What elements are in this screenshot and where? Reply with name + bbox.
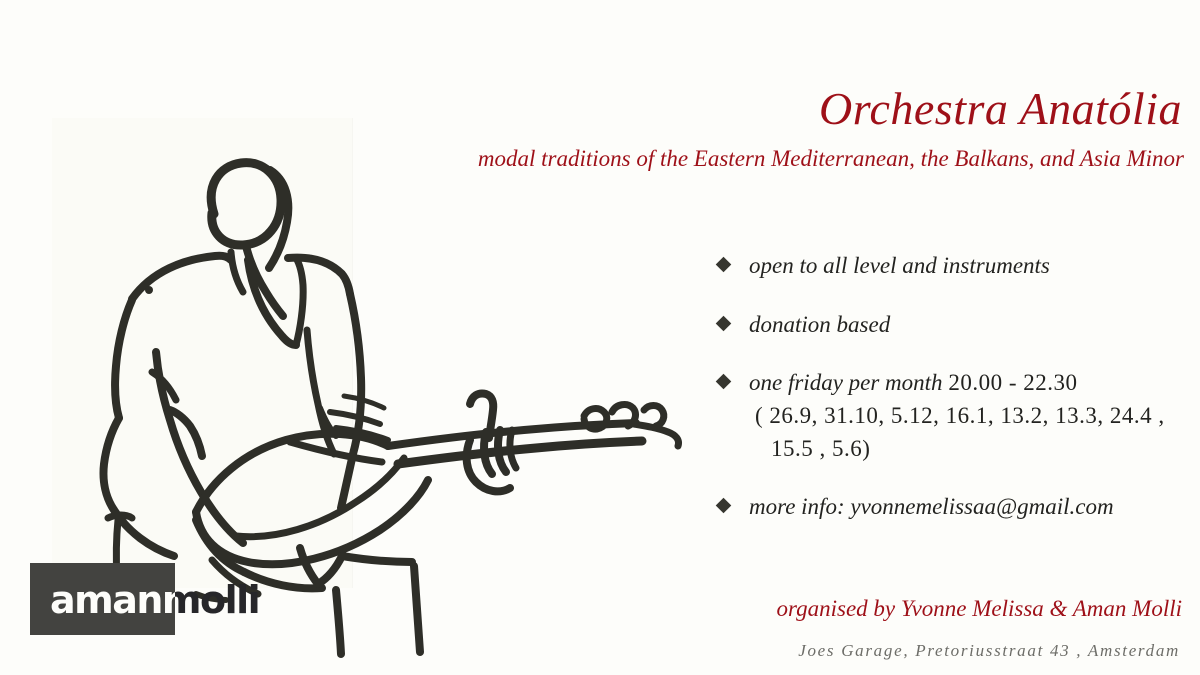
details-list: open to all level and instruments donati… bbox=[718, 250, 1198, 524]
page-subtitle: modal traditions of the Eastern Mediterr… bbox=[478, 146, 1184, 172]
list-item: donation based bbox=[718, 309, 1198, 342]
schedule-dates-line-2: 15.5 , 5.6) bbox=[749, 433, 1165, 466]
schedule-frequency-label: one friday per month bbox=[749, 370, 943, 395]
list-item-label: open to all level and instruments bbox=[749, 250, 1050, 283]
logo-wordmark: amanmolli bbox=[50, 583, 280, 623]
schedule-block: one friday per month 20.00 - 22.30 ( 26.… bbox=[749, 367, 1165, 465]
text-content-column: Orchestra Anatólia modal traditions of t… bbox=[600, 0, 1200, 675]
list-item-label: donation based bbox=[749, 309, 890, 342]
page-title: Orchestra Anatólia bbox=[819, 82, 1182, 135]
diamond-bullet-icon bbox=[716, 498, 732, 514]
list-item: open to all level and instruments bbox=[718, 250, 1198, 283]
list-item-contact: more info: yvonnemelissaa@gmail.com bbox=[718, 491, 1198, 524]
diamond-bullet-icon bbox=[716, 374, 732, 390]
diamond-bullet-icon bbox=[716, 315, 732, 331]
list-item-schedule: one friday per month 20.00 - 22.30 ( 26.… bbox=[718, 367, 1198, 465]
amanmolli-logo: amanmolli bbox=[30, 563, 280, 658]
poster-canvas: amanmolli Orchestra Anatólia modal tradi… bbox=[0, 0, 1200, 675]
schedule-time-label: 20.00 - 22.30 bbox=[948, 370, 1077, 395]
venue-address: Joes Garage, Pretoriusstraat 43 , Amster… bbox=[798, 641, 1180, 661]
contact-email-label[interactable]: more info: yvonnemelissaa@gmail.com bbox=[749, 491, 1114, 524]
organiser-credit: organised by Yvonne Melissa & Aman Molli bbox=[777, 596, 1182, 622]
diamond-bullet-icon bbox=[716, 257, 732, 273]
schedule-dates-line-1: ( 26.9, 31.10, 5.12, 16.1, 13.2, 13.3, 2… bbox=[749, 400, 1165, 433]
